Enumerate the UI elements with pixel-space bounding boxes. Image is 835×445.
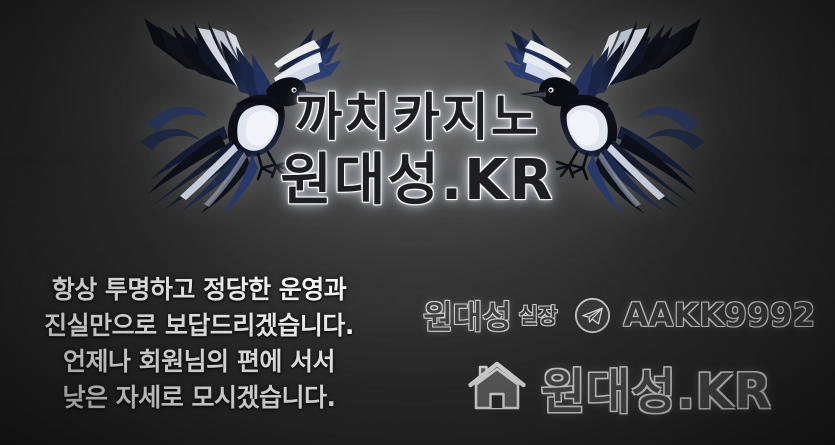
magpie-illustration-left <box>128 6 343 216</box>
telegram-icon[interactable] <box>574 297 611 334</box>
site-url-row[interactable]: 원대성.KR <box>404 352 835 422</box>
home-icon <box>467 358 527 416</box>
site-url-text[interactable]: 원대성.KR <box>541 352 772 422</box>
contact-manager-role: 실장 <box>519 300 558 330</box>
contact-row: 원대성 실장 AAKK9992 <box>404 292 835 338</box>
casino-promo-banner: 까치카지노 원대성.KR 항상 투명하고 정당한 운영과 진실만으로 보답드리겠… <box>0 0 835 445</box>
magpie-illustration-right <box>502 6 717 216</box>
slogan-line-2: 진실만으로 보답드리겠습니다. <box>14 308 384 344</box>
slogan-line-3: 언제나 회원님의 편에 서서 <box>14 344 384 380</box>
slogan-block: 항상 투명하고 정당한 운영과 진실만으로 보답드리겠습니다. 언제나 회원님의… <box>14 272 384 416</box>
telegram-handle[interactable]: AAKK9992 <box>623 296 815 334</box>
slogan-line-4: 낮은 자세로 모시겠습니다. <box>14 380 384 416</box>
slogan-line-1: 항상 투명하고 정당한 운영과 <box>14 272 384 308</box>
contact-manager-name: 원대성 <box>423 292 511 338</box>
